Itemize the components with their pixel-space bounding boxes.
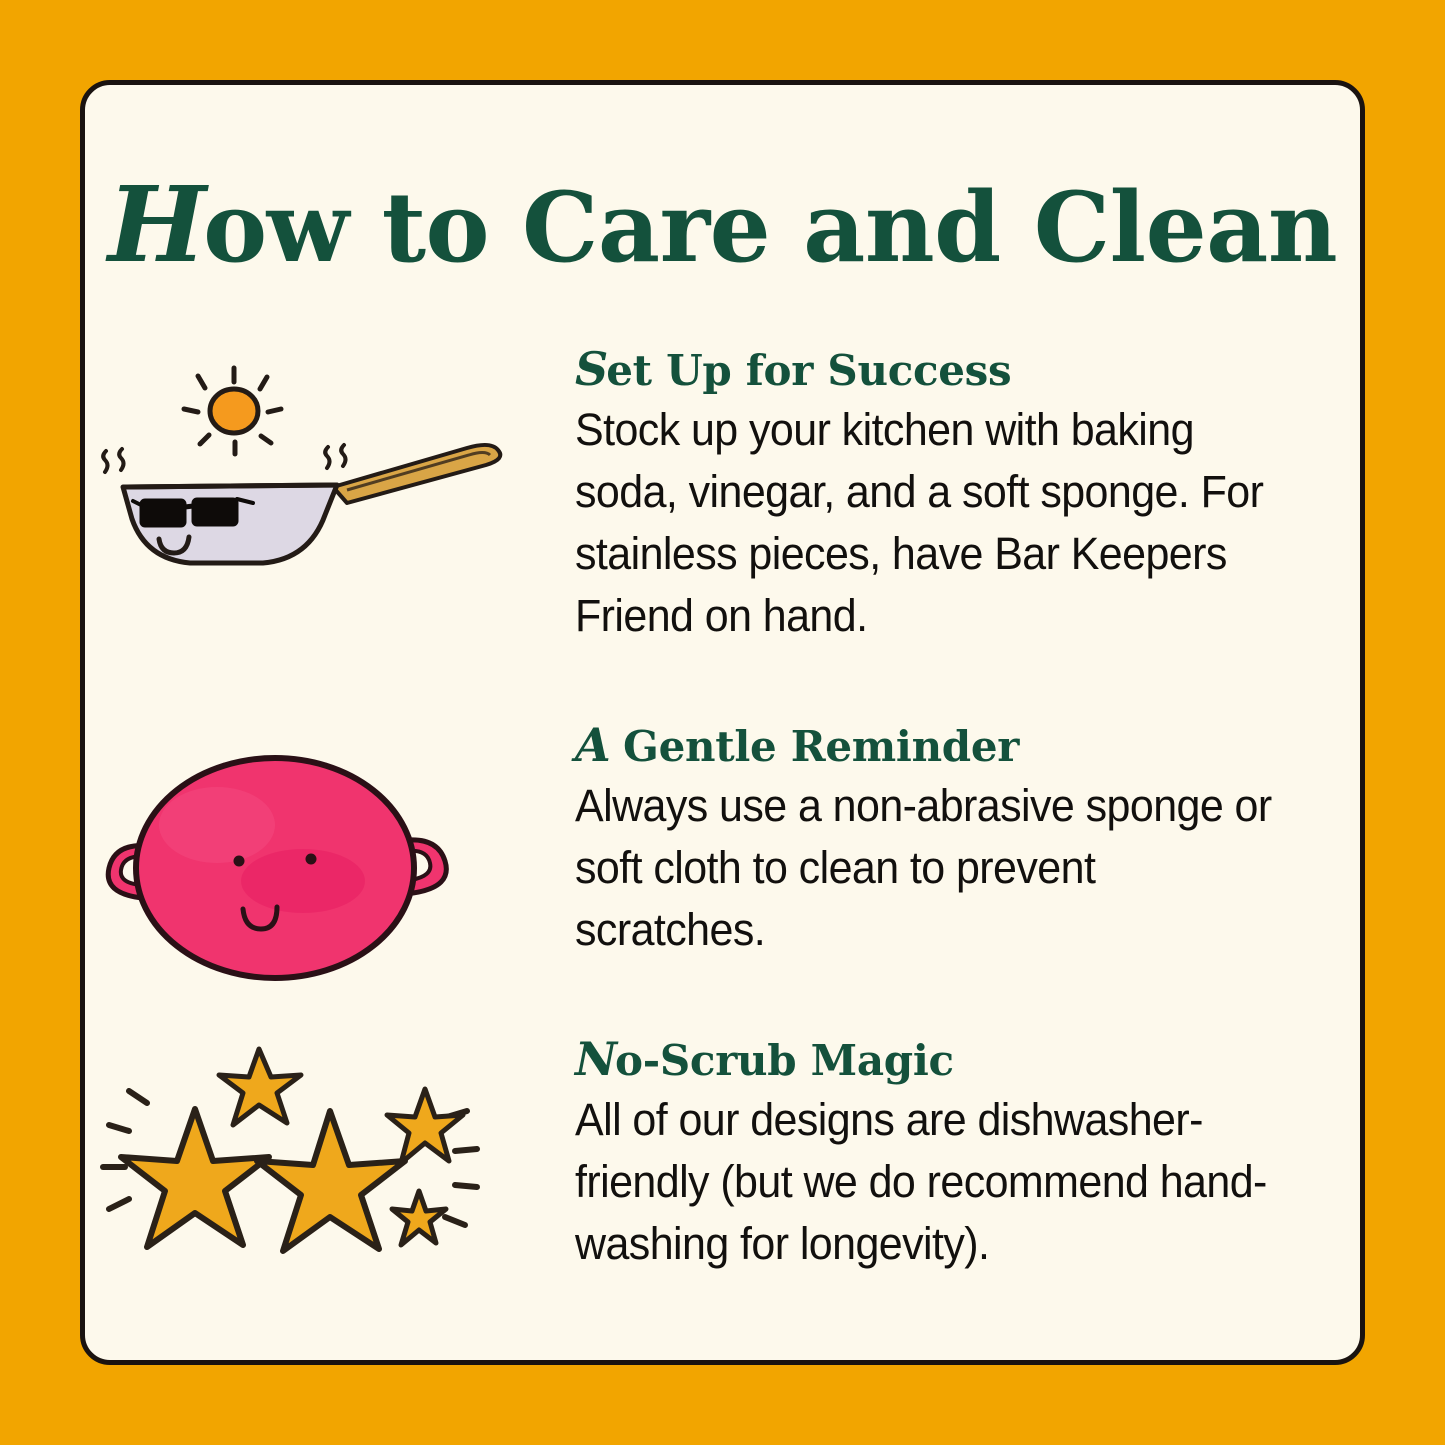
poster-canvas: How to Care and Clean <box>0 0 1445 1445</box>
title-rest: ow to Care and Clean <box>203 171 1337 284</box>
section-2-heading-swash: A <box>575 718 609 772</box>
section-2-body: Always use a non-abrasive sponge or soft… <box>575 775 1282 961</box>
section-1-body: Stock up your kitchen with baking soda, … <box>575 399 1282 647</box>
skillet-illustration-svg <box>85 337 575 637</box>
page-title: How to Care and Clean <box>85 173 1360 277</box>
star-medium-right-icon <box>387 1089 463 1163</box>
star-big-right-icon <box>257 1111 405 1251</box>
pan-rim-icon <box>123 485 337 487</box>
section-1-heading-swash: S <box>575 342 606 396</box>
steam-right-icon <box>325 445 345 468</box>
star-tiny-right-icon <box>392 1191 446 1245</box>
section-no-scrub-magic: No-Scrub Magic All of our designs are di… <box>85 1027 1360 1327</box>
dish-shading <box>241 849 365 913</box>
star-small-top-icon <box>219 1049 301 1125</box>
title-swash-letter: H <box>108 163 203 286</box>
casserole-illustration-svg <box>85 713 575 1013</box>
section-1-heading-rest: et Up for Success <box>606 346 1011 395</box>
section-2-heading: A Gentle Reminder <box>575 721 1360 769</box>
section-3-heading-rest: o-Scrub Magic <box>615 1036 954 1085</box>
section-set-up-for-success: Set Up for Success Stock up your kitchen… <box>85 337 1360 637</box>
section-1-heading: Set Up for Success <box>575 345 1360 393</box>
sunglasses-icon <box>133 499 253 526</box>
section-3-heading: No-Scrub Magic <box>575 1035 1360 1083</box>
sparkling-stars-icon <box>85 1027 575 1327</box>
care-and-clean-card: How to Care and Clean <box>80 80 1365 1365</box>
pan-handle-icon <box>333 445 500 503</box>
pink-oval-casserole-dish-with-face-icon <box>85 713 575 1013</box>
sparkle-dashes-left-icon <box>103 1091 147 1209</box>
section-3-heading-swash: N <box>575 1032 615 1086</box>
dish-eye-left-icon <box>234 856 245 867</box>
dish-highlight <box>159 787 275 863</box>
skillet-with-sunglasses-and-sun-icon <box>85 337 575 637</box>
section-3-text: No-Scrub Magic All of our designs are di… <box>575 1027 1360 1275</box>
stars-illustration-svg <box>85 1027 575 1327</box>
sun-disc-icon <box>210 389 258 433</box>
steam-left-icon <box>103 449 123 472</box>
star-big-left-icon <box>121 1109 269 1247</box>
section-a-gentle-reminder: A Gentle Reminder Always use a non-abras… <box>85 713 1360 1013</box>
dish-eye-right-icon <box>306 854 317 865</box>
section-1-text: Set Up for Success Stock up your kitchen… <box>575 337 1360 647</box>
section-2-text: A Gentle Reminder Always use a non-abras… <box>575 713 1360 961</box>
section-3-body: All of our designs are dishwasher-friend… <box>575 1089 1282 1275</box>
section-2-heading-rest: Gentle Reminder <box>609 722 1019 771</box>
